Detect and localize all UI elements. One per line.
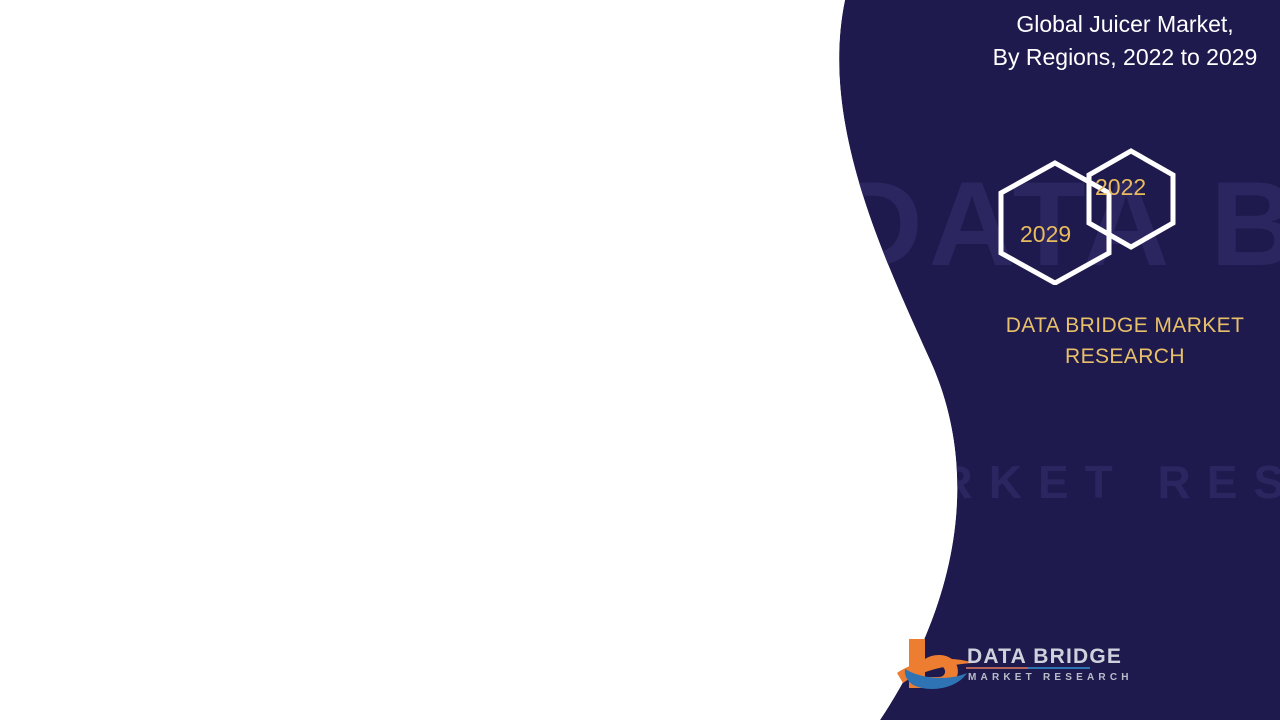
hexagon-pair (975, 125, 1205, 285)
hexagon-year-2029: 2029 (1020, 221, 1071, 248)
infographic-canvas: b DATA BRIDGE MARKET RESEARCH Global Jui… (0, 0, 1280, 720)
panel-brand-name: DATA BRIDGE MARKET RESEARCH (960, 310, 1280, 372)
panel-brand-line-2: RESEARCH (960, 341, 1280, 372)
logo-text-primary: DATA BRIDGE (967, 645, 1122, 669)
panel-watermark-secondary: MARKET RESEARCH (836, 455, 1280, 509)
logo-text-secondary: MARKET RESEARCH (968, 672, 1133, 683)
logo-divider-rule (966, 667, 1090, 669)
panel-title: Global Juicer Market, By Regions, 2022 t… (975, 8, 1275, 74)
panel-brand-line-1: DATA BRIDGE MARKET (960, 310, 1280, 341)
hexagon-year-2022: 2022 (1095, 174, 1146, 201)
panel-title-line-2: By Regions, 2022 to 2029 (975, 41, 1275, 74)
panel-title-line-1: Global Juicer Market, (975, 8, 1275, 41)
